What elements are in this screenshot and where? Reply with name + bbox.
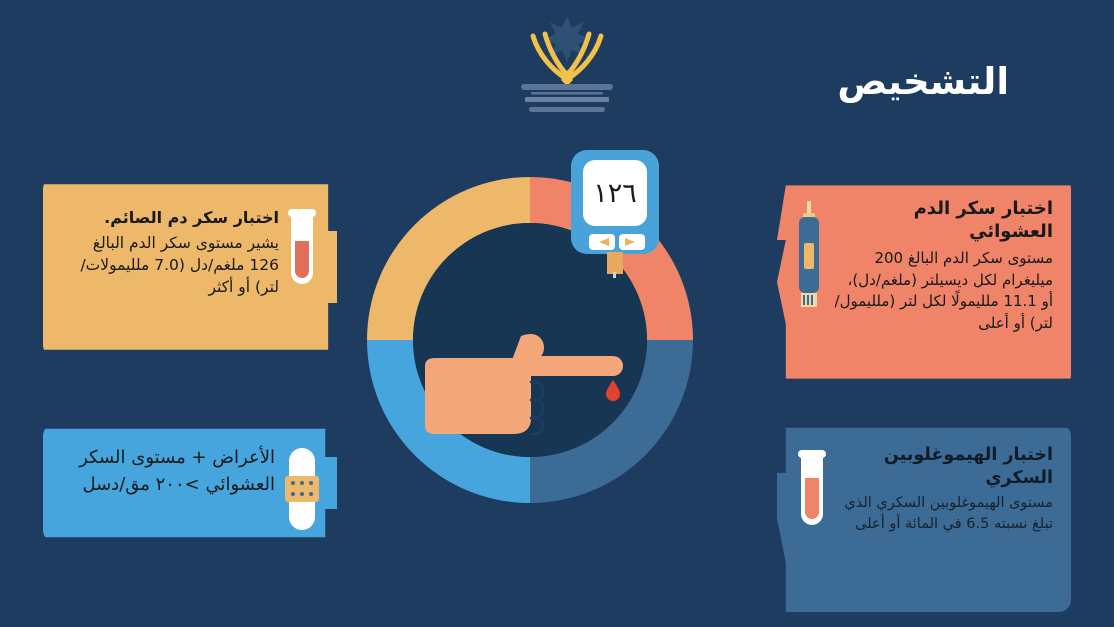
pointing-hand-illustration <box>425 330 665 480</box>
logo-english-wordmark <box>525 97 609 102</box>
glucometer[interactable]: ١٢٦ <box>567 150 663 278</box>
blood-drop-icon <box>606 380 620 401</box>
glucometer-strip <box>607 252 623 274</box>
card-random-blood-sugar[interactable]: اختبار سكر الدم العشوائي مستوى سكر الدم … <box>777 177 1071 387</box>
pointing-hand-icon <box>425 334 623 434</box>
card-random-heading: اختبار سكر الدم العشوائي <box>833 197 1053 244</box>
card-symptoms-body: الأعراض + مستوى السكر العشوائي >٢٠٠ مق/د… <box>61 444 275 498</box>
page-title: التشخيص <box>837 62 1009 103</box>
card-symptoms-text: الأعراض + مستوى السكر العشوائي >٢٠٠ مق/د… <box>61 438 275 498</box>
logo-arabic-wordmark <box>521 84 613 95</box>
card-hba1c-test[interactable]: اختبار الهيموغلوبين السكري مستوى الهيموغ… <box>777 424 1071 612</box>
slide-canvas: التشخيص <box>0 0 1114 627</box>
glucometer-reading: ١٢٦ <box>593 178 637 209</box>
glucometer-needle <box>613 272 616 278</box>
card-hba1c-body: مستوى الهيموغلوبين السكري الذي تبلغ نسبت… <box>839 493 1053 535</box>
insulin-pen-icon <box>795 201 823 309</box>
test-tube-icon <box>285 209 319 295</box>
card-fasting-body: يشير مستوى سكر الدم البالغ 126 ملغم/دل (… <box>67 232 279 298</box>
card-random-text: اختبار سكر الدم العشوائي مستوى سكر الدم … <box>833 191 1053 335</box>
card-hba1c-text: اختبار الهيموغلوبين السكري مستوى الهيموغ… <box>839 438 1053 535</box>
bandage-icon <box>285 446 319 532</box>
card-fasting-text: اختبار سكر دم الصائم. يشير مستوى سكر الد… <box>61 191 279 298</box>
card-random-body: مستوى سكر الدم البالغ 200 ميليغرام لكل د… <box>833 248 1053 335</box>
card-fasting-heading: اختبار سكر دم الصائم. <box>67 207 279 230</box>
logo-faculty-line <box>529 107 605 112</box>
card-fasting-blood-sugar[interactable]: اختبار سكر دم الصائم. يشير مستوى سكر الد… <box>43 177 337 357</box>
najran-university-logo <box>497 8 637 120</box>
card-symptoms-random-sugar[interactable]: الأعراض + مستوى السكر العشوائي >٢٠٠ مق/د… <box>43 424 337 542</box>
test-tube-icon <box>795 450 829 536</box>
card-hba1c-heading: اختبار الهيموغلوبين السكري <box>839 444 1053 490</box>
